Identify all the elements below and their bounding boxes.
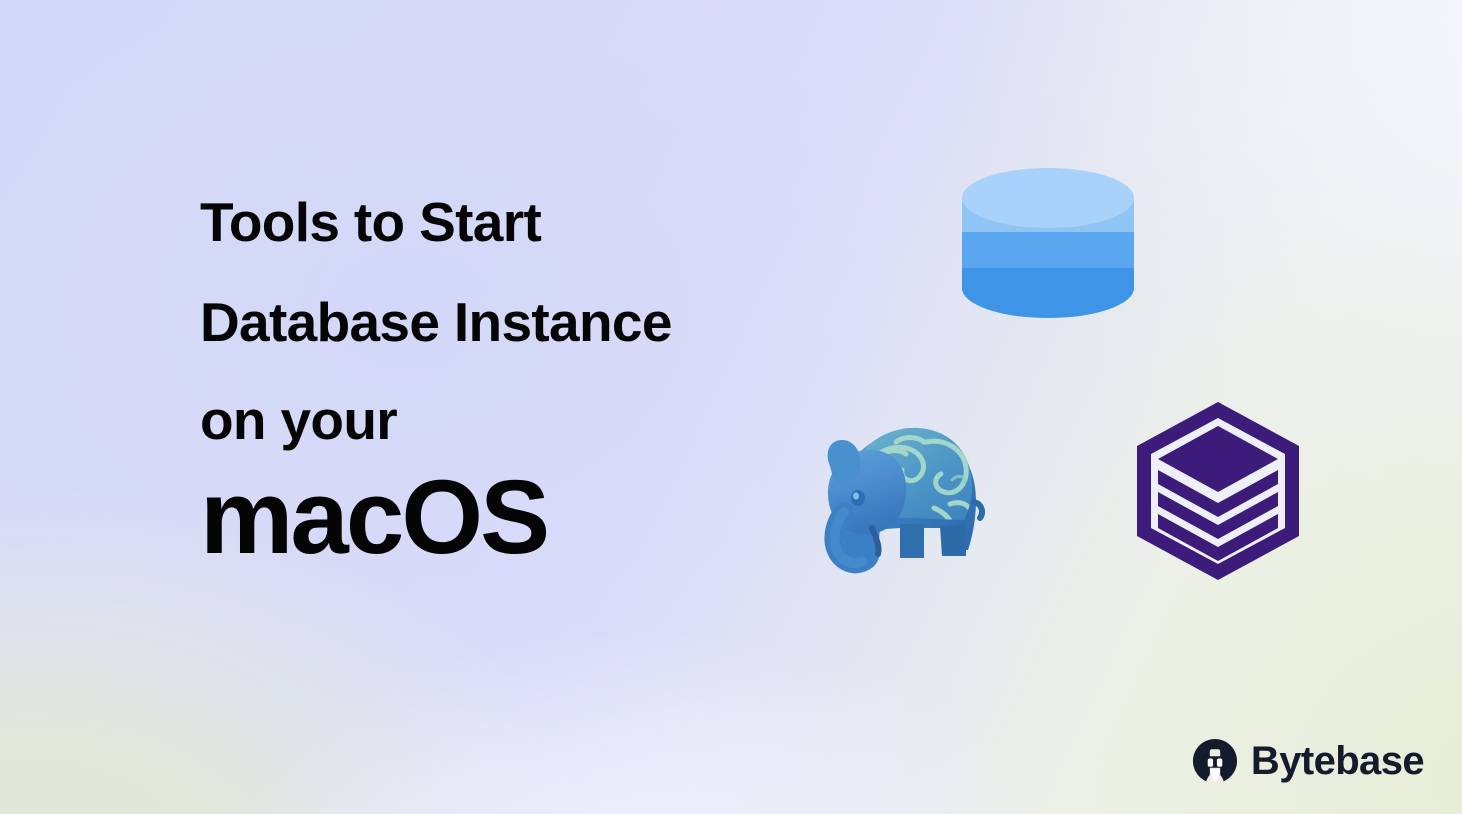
- headline-line-1: Tools to Start: [200, 172, 900, 272]
- bytebase-logo-icon: [1192, 738, 1238, 784]
- headline-line-4: macOS: [200, 462, 900, 574]
- database-cylinder-icon: [958, 168, 1138, 328]
- cockroachdb-hexagon-icon: [1128, 396, 1308, 586]
- postgres-elephant-icon: [800, 408, 990, 588]
- headline-line-2: Database Instance: [200, 272, 900, 372]
- headline-block: Tools to Start Database Instance on your…: [200, 172, 900, 574]
- headline-line-3: on your: [200, 372, 900, 468]
- brand-name: Bytebase: [1251, 741, 1424, 781]
- brand-lockup: Bytebase: [1192, 738, 1424, 784]
- banner-root: Tools to Start Database Instance on your…: [0, 0, 1462, 814]
